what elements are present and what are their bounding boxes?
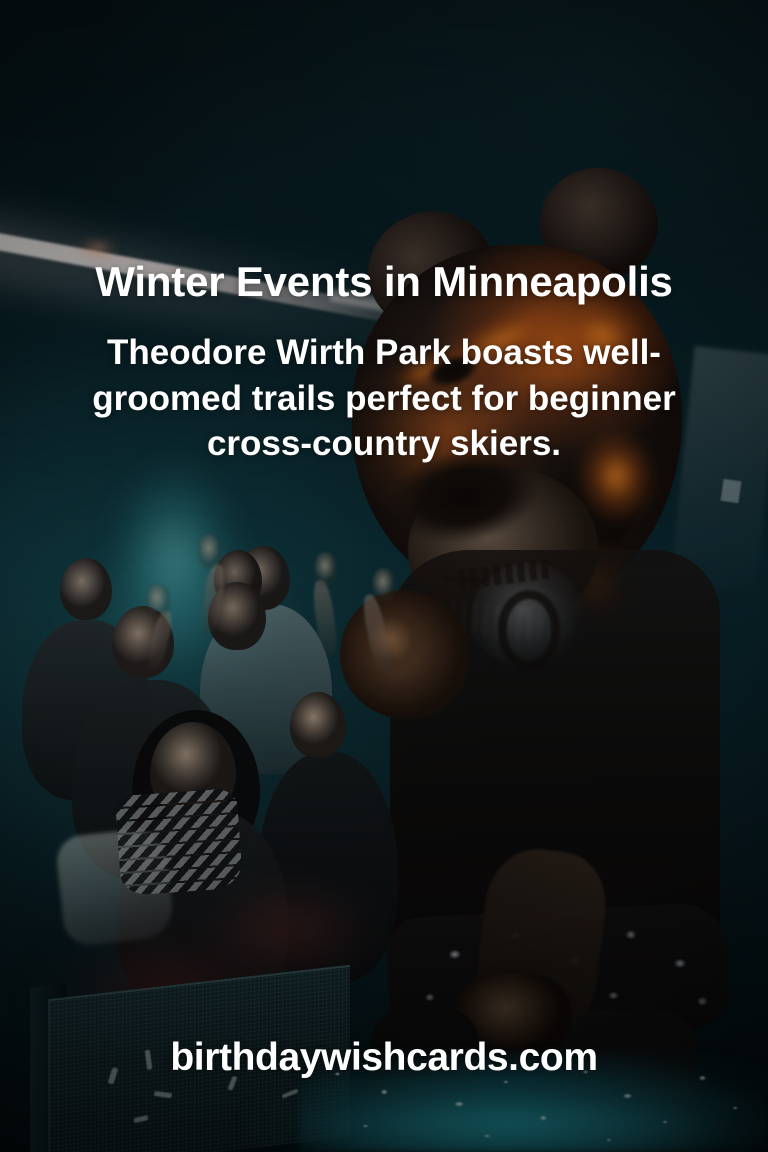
footer-website-url: birthdaywishcards.com	[0, 1036, 768, 1080]
card-subtitle: Theodore Wirth Park boasts well-groomed …	[84, 330, 684, 467]
social-card: Winter Events in Minneapolis Theodore Wi…	[0, 0, 768, 1152]
text-overlay: Winter Events in Minneapolis Theodore Wi…	[0, 0, 768, 1152]
card-title: Winter Events in Minneapolis	[0, 259, 768, 305]
